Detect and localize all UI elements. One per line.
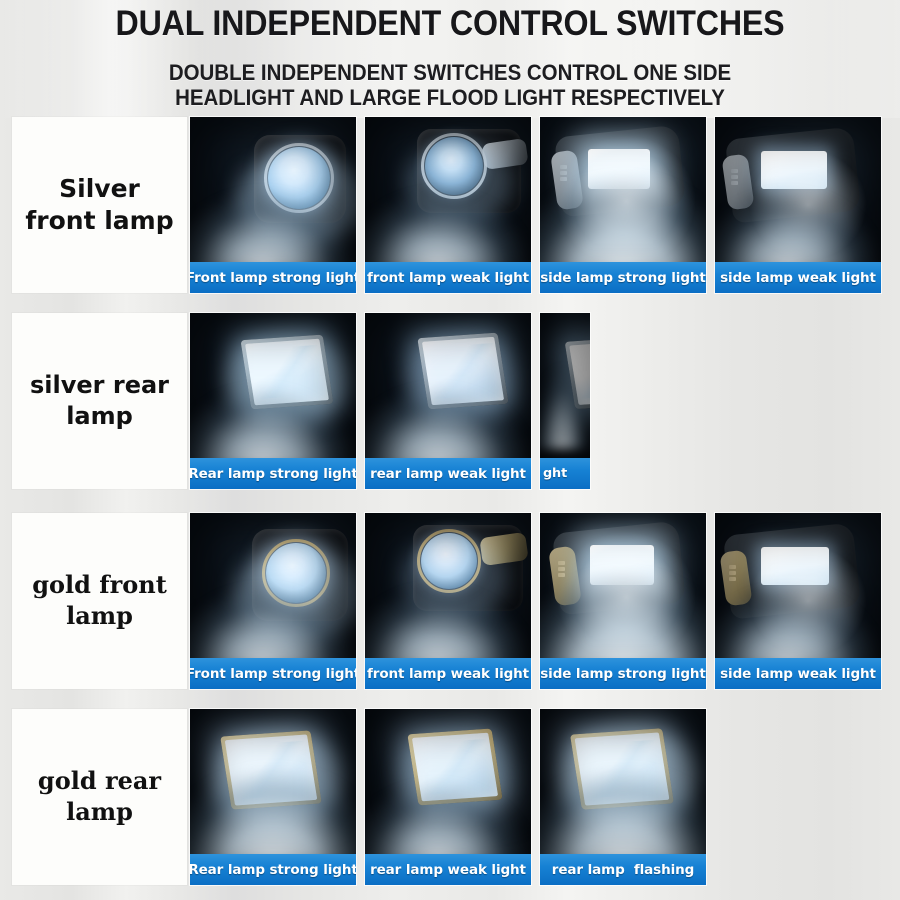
row-label: gold rear lamp xyxy=(12,766,187,827)
row-label: silver rear lamp xyxy=(12,370,187,431)
page-title: DUAL INDEPENDENT CONTROL SWITCHES xyxy=(36,4,864,44)
subtitle-line-1: DOUBLE INDEPENDENT SWITCHES CONTROL ONE … xyxy=(32,60,869,85)
row-label-cell: gold rear lamp xyxy=(12,709,187,885)
row-label-cell: silver rear lamp xyxy=(12,313,187,489)
cell-rear-lamp-weak[interactable]: rear lamp weak light xyxy=(365,313,531,489)
page-subtitle: DOUBLE INDEPENDENT SWITCHES CONTROL ONE … xyxy=(32,60,869,110)
row-label: Silver front lamp xyxy=(12,173,187,237)
row-label-cell: gold front lamp xyxy=(12,513,187,689)
row-gold-rear-lamp: gold rear lamp Rear lamp strong light xyxy=(12,709,884,885)
cell-side-lamp-gold-strong[interactable]: side lamp strong light xyxy=(540,513,706,689)
row-gold-front-lamp: gold front lamp Front lamp strong light xyxy=(12,513,884,689)
cell-caption: front lamp weak light xyxy=(365,658,531,689)
row-label-cell: Silver front lamp xyxy=(12,117,187,293)
cell-rear-lamp-gold-weak[interactable]: rear lamp weak light xyxy=(365,709,531,885)
cell-front-lamp-strong[interactable]: Front lamp strong light xyxy=(190,117,356,293)
cell-front-lamp-weak[interactable]: front lamp weak light xyxy=(365,117,531,293)
cell-rear-lamp-gold-flashing[interactable]: rear lamp flashing xyxy=(540,709,706,885)
cell-side-lamp-weak[interactable]: side lamp weak light xyxy=(715,117,881,293)
cell-caption: Front lamp strong light xyxy=(190,658,356,689)
cell-caption: side lamp strong light xyxy=(540,262,706,293)
cell-caption: side lamp strong light xyxy=(540,658,706,689)
subtitle-line-2: HEADLIGHT AND LARGE FLOOD LIGHT RESPECTI… xyxy=(32,85,869,110)
cell-side-lamp-strong[interactable]: side lamp strong light xyxy=(540,117,706,293)
cell-side-lamp-gold-weak[interactable]: side lamp weak light xyxy=(715,513,881,689)
product-infographic: DUAL INDEPENDENT CONTROL SWITCHES DOUBLE… xyxy=(0,0,900,900)
cell-rear-lamp-strong[interactable]: Rear lamp strong light xyxy=(190,313,356,489)
cell-caption: front lamp weak light xyxy=(365,262,531,293)
cell-rear-lamp-clipped[interactable]: ght xyxy=(540,313,590,489)
row-label: gold front lamp xyxy=(12,570,187,631)
cell-caption: rear lamp weak light xyxy=(365,458,531,489)
cell-rear-lamp-gold-strong[interactable]: Rear lamp strong light xyxy=(190,709,356,885)
cell-caption: side lamp weak light xyxy=(715,658,881,689)
cell-front-lamp-gold-strong[interactable]: Front lamp strong light xyxy=(190,513,356,689)
row-silver-front-lamp: Silver front lamp Front lamp strong ligh… xyxy=(12,117,884,293)
cell-caption: Rear lamp strong light xyxy=(190,854,356,885)
cell-caption: ght xyxy=(540,458,590,489)
row-silver-rear-lamp: silver rear lamp Rear lamp strong light xyxy=(12,313,884,489)
cell-caption: Front lamp strong light xyxy=(190,262,356,293)
cell-caption: rear lamp weak light xyxy=(365,854,531,885)
cell-caption: rear lamp flashing xyxy=(540,854,706,885)
cell-front-lamp-gold-weak[interactable]: front lamp weak light xyxy=(365,513,531,689)
cell-caption: Rear lamp strong light xyxy=(190,458,356,489)
cell-caption: side lamp weak light xyxy=(715,262,881,293)
